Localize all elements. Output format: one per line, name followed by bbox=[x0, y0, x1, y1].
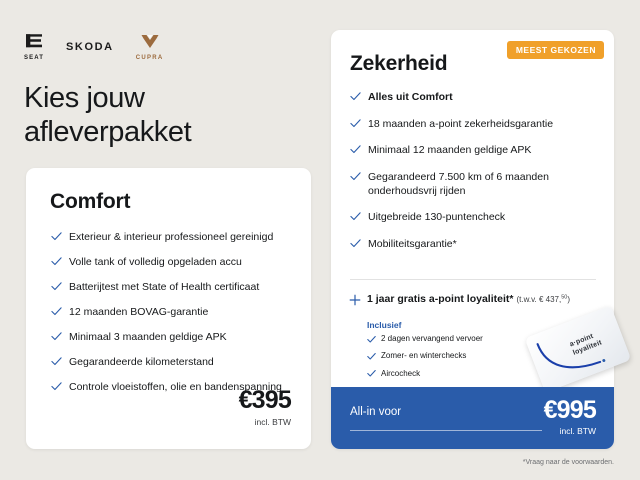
check-icon bbox=[350, 118, 361, 129]
loyalty-value-suffix: ) bbox=[567, 295, 570, 304]
cupra-brand: CUPRA bbox=[136, 34, 164, 61]
disclaimer-text: *Vraag naar de voorwaarden. bbox=[523, 459, 614, 466]
list-item: Minimaal 3 maanden geldige APK bbox=[51, 330, 291, 344]
package-card-comfort[interactable]: Comfort Exterieur & interieur profession… bbox=[26, 168, 311, 449]
list-item: Gegarandeerd 7.500 km of 6 maanden onder… bbox=[350, 170, 600, 198]
list-item: Exterieur & interieur professioneel gere… bbox=[51, 230, 291, 244]
list-item: 12 maanden BOVAG-garantie bbox=[51, 305, 291, 319]
inclusief-heading: Inclusief bbox=[367, 320, 401, 330]
seat-wordmark: SEAT bbox=[24, 55, 44, 61]
allin-price-block: €995 incl. BTW bbox=[544, 398, 596, 436]
list-item: 2 dagen vervangend vervoer bbox=[367, 334, 547, 344]
loyalty-value: (t.w.v. € 437,50) bbox=[516, 295, 570, 304]
check-icon bbox=[350, 211, 361, 222]
list-item-label: Exterieur & interieur professioneel gere… bbox=[69, 231, 273, 243]
seat-logo-icon bbox=[24, 33, 44, 53]
list-item-label: Mobiliteitsgarantie* bbox=[368, 238, 457, 250]
list-item-label: 12 maanden BOVAG-garantie bbox=[69, 306, 208, 318]
loyalty-card-graphic: a·point loyaliteit bbox=[525, 305, 632, 392]
delivery-package-page: SEAT SKODA CUPRA Kies jouw afleverpakket… bbox=[0, 0, 640, 480]
footer-rule bbox=[350, 430, 542, 431]
list-item: Aircocheck bbox=[367, 369, 547, 379]
list-item-label: Batterijtest met State of Health certifi… bbox=[69, 281, 259, 293]
allin-price: €995 bbox=[544, 398, 596, 423]
list-item: Volle tank of volledig opgeladen accu bbox=[51, 255, 291, 269]
list-item-label: Minimaal 12 maanden geldige APK bbox=[368, 144, 531, 156]
brand-logo-strip: SEAT SKODA CUPRA bbox=[24, 33, 164, 61]
check-icon bbox=[51, 256, 62, 267]
package-card-zekerheid[interactable]: MEEST GEKOZEN Zekerheid Alles uit Comfor… bbox=[331, 30, 614, 449]
list-item-label: 18 maanden a-point zekerheidsgarantie bbox=[368, 118, 553, 130]
zekerheid-title: Zekerheid bbox=[350, 52, 447, 76]
status-badge: MEEST GEKOZEN bbox=[507, 41, 604, 59]
comfort-feature-list: Exterieur & interieur professioneel gere… bbox=[51, 230, 291, 405]
check-icon bbox=[367, 352, 376, 361]
check-icon bbox=[367, 369, 376, 378]
check-icon bbox=[367, 335, 376, 344]
check-icon bbox=[51, 381, 62, 392]
check-icon bbox=[350, 91, 361, 102]
check-icon bbox=[350, 144, 361, 155]
allin-price-bar: All-in voor €995 incl. BTW bbox=[331, 387, 614, 449]
section-divider bbox=[350, 279, 596, 280]
list-item-label: Zomer- en winterchecks bbox=[381, 351, 466, 360]
list-item-label: 2 dagen vervangend vervoer bbox=[381, 334, 483, 343]
list-item-label: Minimaal 3 maanden geldige APK bbox=[69, 331, 227, 343]
check-icon bbox=[51, 281, 62, 292]
list-item-label: Aircocheck bbox=[381, 369, 420, 378]
check-icon bbox=[51, 331, 62, 342]
list-item-label: Alles uit Comfort bbox=[368, 91, 453, 103]
page-title: Kies jouw afleverpakket bbox=[24, 82, 314, 150]
comfort-title: Comfort bbox=[50, 190, 130, 214]
list-item: Batterijtest met State of Health certifi… bbox=[51, 280, 291, 294]
plus-icon bbox=[349, 294, 361, 306]
list-item: Zomer- en winterchecks bbox=[367, 351, 547, 361]
loyalty-value-prefix: (t.w.v. € 437, bbox=[516, 295, 561, 304]
list-item-label: Uitgebreide 130-puntencheck bbox=[368, 211, 505, 223]
list-item: 18 maanden a-point zekerheidsgarantie bbox=[350, 117, 600, 131]
list-item-label: Gegarandeerde kilometerstand bbox=[69, 356, 214, 368]
comfort-price-note: incl. BTW bbox=[239, 417, 291, 427]
list-item: Alles uit Comfort bbox=[350, 90, 600, 104]
list-item: Mobiliteitsgarantie* bbox=[350, 237, 600, 251]
list-item-label: Gegarandeerd 7.500 km of 6 maanden onder… bbox=[368, 171, 549, 197]
seat-brand: SEAT bbox=[24, 33, 44, 61]
list-item: Minimaal 12 maanden geldige APK bbox=[350, 143, 600, 157]
check-icon bbox=[51, 306, 62, 317]
cupra-logo-icon bbox=[140, 34, 160, 53]
skoda-wordmark: SKODA bbox=[66, 42, 114, 53]
check-icon bbox=[350, 171, 361, 182]
list-item: Uitgebreide 130-puntencheck bbox=[350, 210, 600, 224]
skoda-brand: SKODA bbox=[66, 42, 114, 53]
list-item: Gegarandeerde kilometerstand bbox=[51, 355, 291, 369]
zekerheid-feature-list: Alles uit Comfort 18 maanden a-point zek… bbox=[350, 90, 600, 263]
check-icon bbox=[51, 231, 62, 242]
comfort-price-block: €395 incl. BTW bbox=[239, 388, 291, 427]
check-icon bbox=[51, 356, 62, 367]
loyalty-label: 1 jaar gratis a-point loyaliteit* bbox=[367, 293, 513, 305]
cupra-wordmark: CUPRA bbox=[136, 55, 164, 61]
allin-price-note: incl. BTW bbox=[544, 426, 596, 436]
list-item-label: Volle tank of volledig opgeladen accu bbox=[69, 256, 242, 268]
loyalty-row: 1 jaar gratis a-point loyaliteit*(t.w.v.… bbox=[350, 293, 605, 305]
check-icon bbox=[350, 238, 361, 249]
comfort-price: €395 bbox=[239, 388, 291, 413]
allin-label: All-in voor bbox=[350, 406, 401, 418]
